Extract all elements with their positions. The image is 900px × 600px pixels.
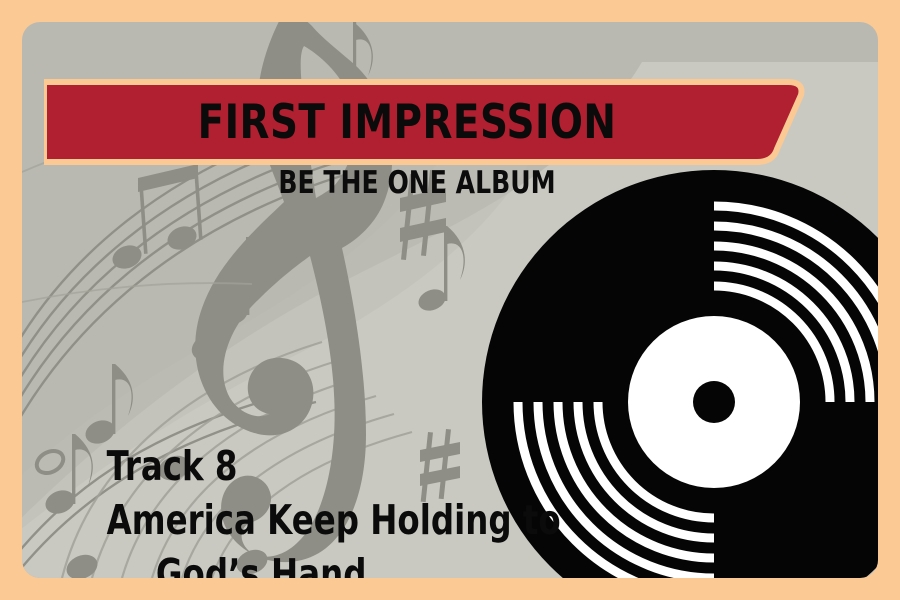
banner-title-text: FIRST IMPRESSION (198, 95, 617, 150)
track-title-line-2: God’s Hand (82, 554, 496, 578)
album-subtitle-text: BE THE ONE ALBUM (278, 165, 555, 201)
page-title: FIRST IMPRESSION (53, 80, 761, 164)
track-number: Track 8 (82, 446, 496, 487)
card-inner-panel: FIRST IMPRESSION BE THE ONE ALBUM Track … (22, 22, 878, 578)
album-track-card: FIRST IMPRESSION BE THE ONE ALBUM Track … (0, 0, 900, 600)
track-info-block: Track 8 America Keep Holding to God’s Ha… (82, 446, 552, 578)
record-label (628, 316, 800, 488)
whole-note (190, 332, 224, 363)
record-spindle-hole (693, 381, 735, 423)
quarter-note-lower-1 (82, 364, 133, 448)
eighth-note-center (415, 226, 465, 315)
album-subtitle: BE THE ONE ALBUM (62, 165, 773, 201)
track-title-line-1: America Keep Holding to (82, 500, 496, 541)
whole-note-lower (33, 447, 67, 478)
eighth-note-upper (217, 237, 267, 329)
